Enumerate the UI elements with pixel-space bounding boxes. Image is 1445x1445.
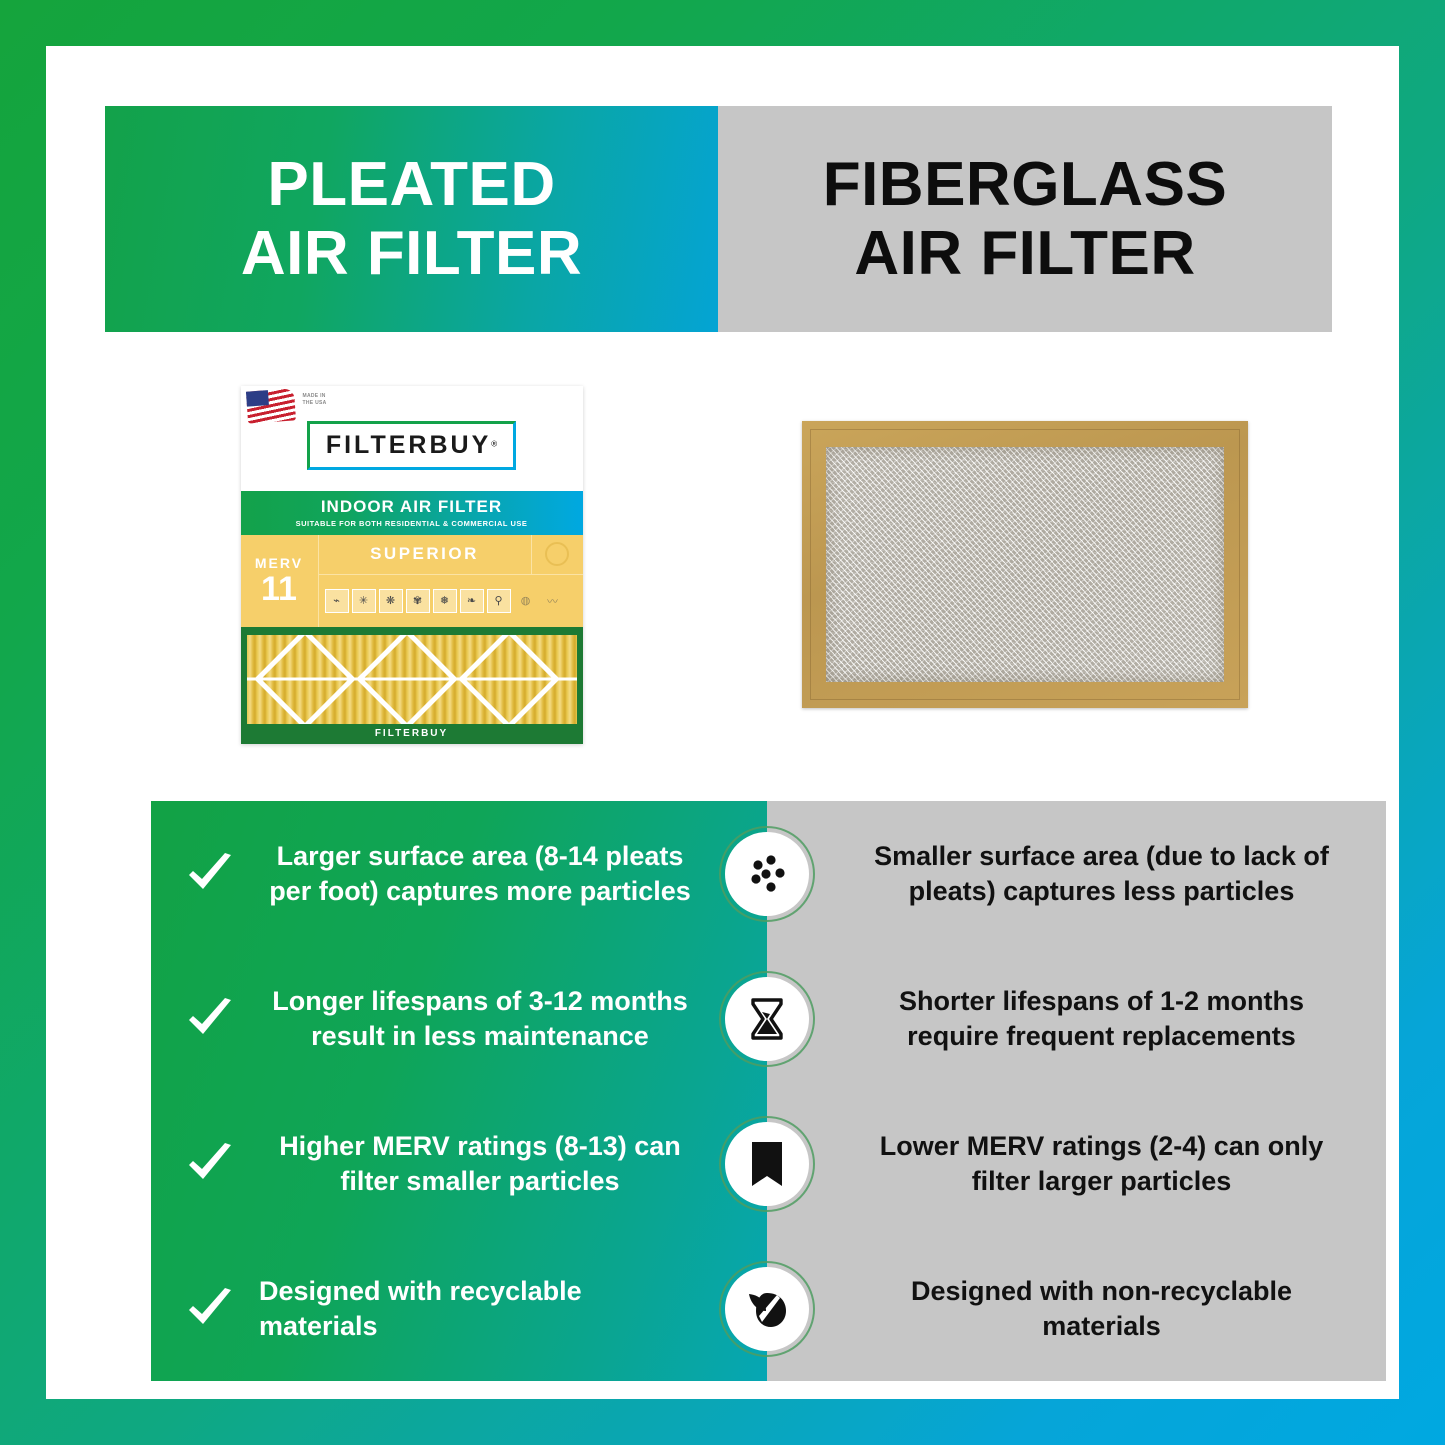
usa-flag-icon: [245, 388, 295, 423]
insect-icon: ✳: [352, 589, 376, 613]
row-fiberglass-cell: Smaller surface area (due to lack of ple…: [767, 801, 1386, 946]
particles-icon: [725, 832, 809, 916]
row-fiberglass-text: Designed with non-recyclable materials: [857, 1274, 1346, 1343]
merv-right-block: SUPERIOR ⌁ ✳ ❋ ✾ ❅ ❧: [319, 535, 583, 627]
mold-icon: ✾: [406, 589, 430, 613]
row-badge: [719, 1261, 815, 1357]
pleated-filter-box-image: MADE IN THE USA FILTERBUY® INDOOR AIR FI…: [241, 386, 583, 744]
row-pleated-text: Higher MERV ratings (8-13) can filter sm…: [253, 1129, 707, 1198]
certification-seal: [531, 535, 583, 574]
fiberglass-product-cell: [718, 332, 1332, 797]
filterbuy-logo: FILTERBUY®: [307, 421, 516, 470]
box-top-section: MADE IN THE USA FILTERBUY®: [241, 386, 583, 491]
row-fiberglass-cell: Shorter lifespans of 1-2 months require …: [767, 946, 1386, 1091]
seal-circle-icon: [545, 542, 569, 566]
pollen-icon: ❋: [379, 589, 403, 613]
infographic-page: PLEATED AIR FILTER FIBERGLASS AIR FILTER…: [0, 0, 1445, 1445]
bookmark-icon: [725, 1122, 809, 1206]
odor-icon: 〰: [541, 589, 565, 613]
table-row: Designed with recyclable materials: [151, 1236, 1386, 1381]
header-row: PLEATED AIR FILTER FIBERGLASS AIR FILTER: [105, 106, 1332, 332]
check-icon: [181, 1135, 239, 1193]
comparison-rows: Larger surface area (8-14 pleats per foo…: [151, 801, 1386, 1381]
table-row: Higher MERV ratings (8-13) can filter sm…: [151, 1091, 1386, 1236]
box-footer-brand: FILTERBUY: [247, 724, 577, 744]
pleated-media-photo: FILTERBUY: [241, 627, 583, 744]
check-icon: [181, 990, 239, 1048]
trademark-symbol: ®: [491, 439, 497, 448]
box-indoor-band: INDOOR AIR FILTER SUITABLE FOR BOTH RESI…: [241, 491, 583, 535]
row-fiberglass-cell: Designed with non-recyclable materials: [767, 1236, 1386, 1381]
suitable-for-label: SUITABLE FOR BOTH RESIDENTIAL & COMMERCI…: [296, 519, 528, 528]
pleated-product-cell: MADE IN THE USA FILTERBUY® INDOOR AIR FI…: [105, 332, 718, 797]
merv-value: 11: [261, 573, 297, 605]
row-pleated-text: Larger surface area (8-14 pleats per foo…: [253, 839, 707, 908]
page-title-fiberglass: FIBERGLASS AIR FILTER: [823, 150, 1228, 289]
comparison-table: Larger surface area (8-14 pleats per foo…: [151, 801, 1386, 1381]
row-pleated-cell: Higher MERV ratings (8-13) can filter sm…: [151, 1091, 767, 1236]
indoor-air-filter-label: INDOOR AIR FILTER: [321, 497, 502, 517]
row-pleated-text: Designed with recyclable materials: [253, 1274, 707, 1343]
tier-row: SUPERIOR: [319, 535, 583, 575]
support-diamond: [458, 635, 560, 724]
bacteria-icon: ❅: [433, 589, 457, 613]
fiberglass-mesh-texture: [826, 447, 1224, 682]
pleat-texture: [247, 635, 577, 724]
support-diamond: [356, 635, 458, 724]
table-row: Longer lifespans of 3-12 months result i…: [151, 946, 1386, 1091]
white-card: PLEATED AIR FILTER FIBERGLASS AIR FILTER…: [46, 46, 1399, 1399]
row-pleated-cell: Larger surface area (8-14 pleats per foo…: [151, 801, 767, 946]
table-row: Larger surface area (8-14 pleats per foo…: [151, 801, 1386, 946]
product-images-row: MADE IN THE USA FILTERBUY® INDOOR AIR FI…: [105, 332, 1332, 797]
page-title-pleated: PLEATED AIR FILTER: [241, 150, 582, 289]
row-fiberglass-text: Shorter lifespans of 1-2 months require …: [857, 984, 1346, 1053]
check-icon: [181, 845, 239, 903]
feature-icon-strip: ⌁ ✳ ❋ ✾ ❅ ❧ ⚲ ◍ 〰: [319, 575, 583, 627]
tier-label: SUPERIOR: [319, 535, 531, 574]
header-pleated: PLEATED AIR FILTER: [105, 106, 718, 332]
row-badge: [719, 971, 815, 1067]
row-badge: [719, 826, 815, 922]
filterbuy-logo-text: FILTERBUY: [326, 431, 491, 459]
dust-icon: ⌁: [325, 589, 349, 613]
made-in-usa-label: MADE IN THE USA: [303, 393, 327, 408]
pet-dander-icon: ❧: [460, 589, 484, 613]
header-fiberglass: FIBERGLASS AIR FILTER: [718, 106, 1332, 332]
merv-label: MERV: [255, 555, 303, 571]
row-badge: [719, 1116, 815, 1212]
fiberglass-filter-image: [802, 421, 1248, 708]
smoke-icon: ⚲: [487, 589, 511, 613]
row-pleated-cell: Designed with recyclable materials: [151, 1236, 767, 1381]
leaves-icon: [725, 1267, 809, 1351]
merv-block: MERV 11: [241, 535, 319, 627]
row-fiberglass-cell: Lower MERV ratings (2-4) can only filter…: [767, 1091, 1386, 1236]
row-fiberglass-text: Lower MERV ratings (2-4) can only filter…: [857, 1129, 1346, 1198]
check-icon: [181, 1280, 239, 1338]
row-fiberglass-text: Smaller surface area (due to lack of ple…: [857, 839, 1346, 908]
lint-icon: ◍: [514, 589, 538, 613]
row-pleated-cell: Longer lifespans of 3-12 months result i…: [151, 946, 767, 1091]
hourglass-icon: [725, 977, 809, 1061]
support-diamond: [254, 635, 356, 724]
box-merv-section: MERV 11 SUPERIOR ⌁: [241, 535, 583, 627]
row-pleated-text: Longer lifespans of 3-12 months result i…: [253, 984, 707, 1053]
